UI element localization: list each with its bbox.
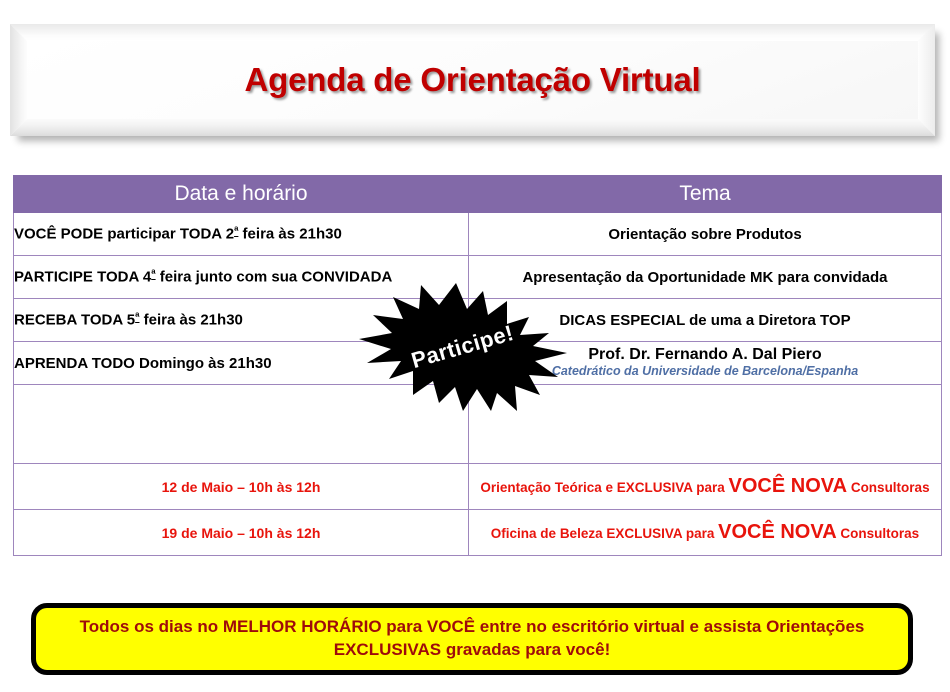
cell-date-prefix: PARTICIPE TODA 4 — [14, 269, 151, 286]
cell-date-prefix: RECEBA TODA 5 — [14, 312, 135, 329]
footer-banner: Todos os dias no MELHOR HORÁRIO para VOC… — [31, 603, 913, 675]
footer-text: Todos os dias no MELHOR HORÁRIO para VOC… — [80, 616, 865, 662]
agenda-table: Data e horário Tema VOCÊ PODE participar… — [13, 175, 942, 556]
cell-date-suffix: feira às 21h30 — [139, 312, 242, 329]
cell-topic: Orientação sobre Produtos — [469, 213, 942, 256]
topic-text-part1: Oficina de Beleza EXCLUSIVA para — [491, 526, 718, 541]
banner-bevel-top — [10, 24, 935, 41]
cell-date-suffix: feira junto com sua CONVIDADA — [156, 269, 393, 286]
table-row-empty — [14, 385, 942, 464]
column-header-topic: Tema — [469, 176, 942, 213]
cell-date — [14, 385, 469, 464]
table-row: VOCÊ PODE participar TODA 2ª feira às 21… — [14, 213, 942, 256]
cell-topic: Oficina de Beleza EXCLUSIVA para VOCÊ NO… — [469, 510, 942, 556]
banner-bevel-left — [10, 24, 27, 136]
banner-inner: Agenda de Orientação Virtual — [27, 41, 918, 119]
cell-topic: Orientação Teórica e EXCLUSIVA para VOCÊ… — [469, 464, 942, 510]
table-row: PARTICIPE TODA 4ª feira junto com sua CO… — [14, 256, 942, 299]
topic-text-part2: Consultoras — [837, 526, 920, 541]
topic-highlight: VOCÊ NOVA — [718, 521, 837, 543]
cell-topic: DICAS ESPECIAL de uma a Diretora TOP — [469, 299, 942, 342]
page-title: Agenda de Orientação Virtual — [245, 61, 701, 99]
speaker-name: Prof. Dr. Fernando A. Dal Piero — [469, 347, 941, 364]
banner-bevel-bottom — [10, 119, 935, 136]
cell-topic — [469, 385, 942, 464]
topic-highlight: VOCÊ NOVA — [729, 475, 848, 497]
table-row: RECEBA TODA 5ª feira às 21h30 DICAS ESPE… — [14, 299, 942, 342]
table-row: APRENDA TODO Domingo às 21h30 Prof. Dr. … — [14, 342, 942, 385]
cell-topic: Apresentação da Oportunidade MK para con… — [469, 256, 942, 299]
title-banner: Agenda de Orientação Virtual — [10, 24, 935, 136]
cell-date-prefix: VOCÊ PODE participar TODA 2 — [14, 226, 234, 243]
cell-date: 19 de Maio – 10h às 12h — [14, 510, 469, 556]
cell-date: 12 de Maio – 10h às 12h — [14, 464, 469, 510]
topic-text-part1: Orientação Teórica e EXCLUSIVA para — [480, 480, 728, 495]
footer-line-1: Todos os dias no MELHOR HORÁRIO para VOC… — [80, 617, 865, 636]
topic-text-part2: Consultoras — [847, 480, 930, 495]
cell-date: RECEBA TODA 5ª feira às 21h30 — [14, 299, 469, 342]
column-header-date: Data e horário — [14, 176, 469, 213]
banner-bevel-right — [918, 24, 935, 136]
cell-date: APRENDA TODO Domingo às 21h30 — [14, 342, 469, 385]
cell-date: VOCÊ PODE participar TODA 2ª feira às 21… — [14, 213, 469, 256]
footer-line-2: EXCLUSIVAS gravadas para você! — [334, 640, 611, 659]
cell-date-suffix: feira às 21h30 — [238, 226, 341, 243]
cell-date: PARTICIPE TODA 4ª feira junto com sua CO… — [14, 256, 469, 299]
table-header-row: Data e horário Tema — [14, 176, 942, 213]
table-row: 12 de Maio – 10h às 12h Orientação Teóri… — [14, 464, 942, 510]
speaker-subtitle: Catedrático da Universidade de Barcelona… — [469, 364, 941, 378]
cell-speaker: Prof. Dr. Fernando A. Dal Piero Catedrát… — [469, 342, 942, 385]
table-row: 19 de Maio – 10h às 12h Oficina de Belez… — [14, 510, 942, 556]
